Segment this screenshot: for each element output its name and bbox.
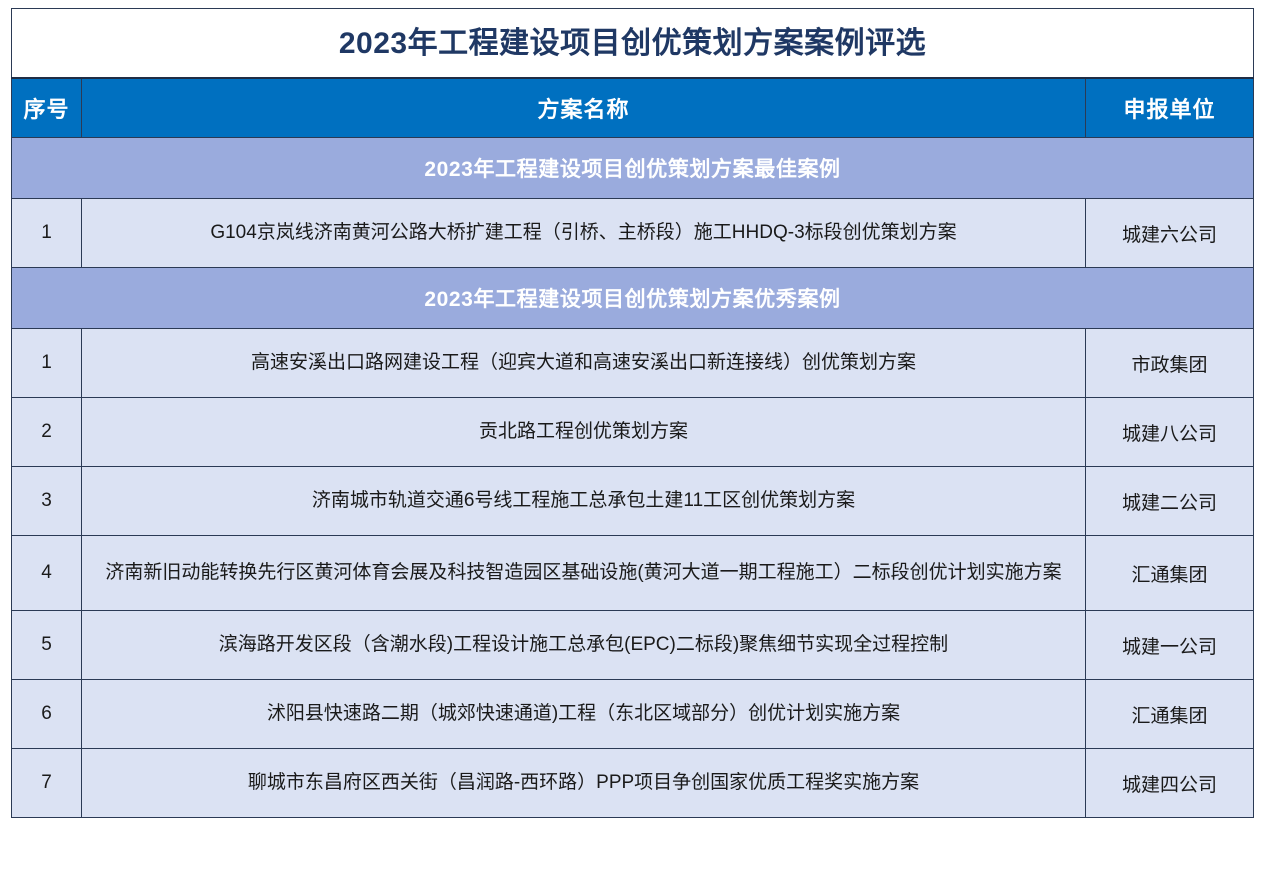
table-row: 5 滨海路开发区段（含潮水段)工程设计施工总承包(EPC)二标段)聚焦细节实现全…: [12, 611, 1254, 680]
row-index: 2: [12, 398, 82, 467]
row-plan-name: 滨海路开发区段（含潮水段)工程设计施工总承包(EPC)二标段)聚焦细节实现全过程…: [82, 611, 1086, 680]
page-title: 2023年工程建设项目创优策划方案案例评选: [12, 27, 1253, 60]
row-unit-value: 市政集团: [1086, 350, 1253, 377]
column-header-index: 序号: [12, 78, 82, 138]
row-index-value: 3: [12, 490, 81, 512]
row-index-value: 2: [12, 421, 81, 443]
row-plan-name-value: 济南新旧动能转换先行区黄河体育会展及科技智造园区基础设施(黄河大道一期工程施工）…: [82, 559, 1085, 587]
document-title-cell: 2023年工程建设项目创优策划方案案例评选: [12, 9, 1254, 79]
row-plan-name: G104京岚线济南黄河公路大桥扩建工程（引桥、主桥段）施工HHDQ-3标段创优策…: [82, 199, 1086, 268]
row-unit: 市政集团: [1086, 329, 1254, 398]
row-unit-value: 城建一公司: [1086, 632, 1253, 659]
table-row: 3 济南城市轨道交通6号线工程施工总承包土建11工区创优策划方案 城建二公司: [12, 467, 1254, 536]
row-plan-name: 沭阳县快速路二期（城郊快速通道)工程（东北区域部分）创优计划实施方案: [82, 680, 1086, 749]
row-unit-value: 汇通集团: [1086, 701, 1253, 728]
table-row: 6 沭阳县快速路二期（城郊快速通道)工程（东北区域部分）创优计划实施方案 汇通集…: [12, 680, 1254, 749]
column-header-unit: 申报单位: [1086, 78, 1254, 138]
table-row: 2 贡北路工程创优策划方案 城建八公司: [12, 398, 1254, 467]
row-index: 7: [12, 749, 82, 818]
table-row: 1 高速安溪出口路网建设工程（迎宾大道和高速安溪出口新连接线）创优策划方案 市政…: [12, 329, 1254, 398]
row-unit-value: 城建六公司: [1086, 220, 1253, 247]
row-unit: 汇通集团: [1086, 536, 1254, 611]
row-unit-value: 汇通集团: [1086, 560, 1253, 587]
section-header-best-cases: 2023年工程建设项目创优策划方案最佳案例: [12, 138, 1254, 199]
row-index-value: 1: [12, 352, 81, 374]
row-unit: 城建二公司: [1086, 467, 1254, 536]
row-plan-name-value: 高速安溪出口路网建设工程（迎宾大道和高速安溪出口新连接线）创优策划方案: [82, 349, 1085, 377]
column-header-row: 序号 方案名称 申报单位: [12, 78, 1254, 138]
title-row: 2023年工程建设项目创优策划方案案例评选: [12, 9, 1254, 79]
column-header-name-label: 方案名称: [82, 92, 1085, 124]
row-plan-name-value: 沭阳县快速路二期（城郊快速通道)工程（东北区域部分）创优计划实施方案: [82, 700, 1085, 728]
row-unit: 汇通集团: [1086, 680, 1254, 749]
row-index-value: 1: [12, 222, 81, 244]
column-header-unit-label: 申报单位: [1086, 92, 1253, 124]
row-unit-value: 城建四公司: [1086, 770, 1253, 797]
document-page: 2023年工程建设项目创优策划方案案例评选 序号 方案名称 申报单位 2023年…: [0, 0, 1266, 873]
row-index: 1: [12, 199, 82, 268]
column-header-name: 方案名称: [82, 78, 1086, 138]
row-unit: 城建一公司: [1086, 611, 1254, 680]
table-row: 7 聊城市东昌府区西关街（昌润路-西环路）PPP项目争创国家优质工程奖实施方案 …: [12, 749, 1254, 818]
row-index: 1: [12, 329, 82, 398]
section-header-row: 2023年工程建设项目创优策划方案优秀案例: [12, 268, 1254, 329]
row-plan-name: 济南新旧动能转换先行区黄河体育会展及科技智造园区基础设施(黄河大道一期工程施工）…: [82, 536, 1086, 611]
row-index-value: 6: [12, 703, 81, 725]
row-index: 4: [12, 536, 82, 611]
row-plan-name-value: G104京岚线济南黄河公路大桥扩建工程（引桥、主桥段）施工HHDQ-3标段创优策…: [82, 219, 1085, 247]
row-plan-name: 济南城市轨道交通6号线工程施工总承包土建11工区创优策划方案: [82, 467, 1086, 536]
row-plan-name-value: 聊城市东昌府区西关街（昌润路-西环路）PPP项目争创国家优质工程奖实施方案: [82, 769, 1085, 797]
row-plan-name: 聊城市东昌府区西关街（昌润路-西环路）PPP项目争创国家优质工程奖实施方案: [82, 749, 1086, 818]
row-plan-name-value: 贡北路工程创优策划方案: [82, 418, 1085, 446]
row-plan-name: 贡北路工程创优策划方案: [82, 398, 1086, 467]
row-plan-name: 高速安溪出口路网建设工程（迎宾大道和高速安溪出口新连接线）创优策划方案: [82, 329, 1086, 398]
table-row: 1 G104京岚线济南黄河公路大桥扩建工程（引桥、主桥段）施工HHDQ-3标段创…: [12, 199, 1254, 268]
row-index: 5: [12, 611, 82, 680]
section-header-row: 2023年工程建设项目创优策划方案最佳案例: [12, 138, 1254, 199]
section-header-label: 2023年工程建设项目创优策划方案最佳案例: [12, 153, 1253, 183]
row-index-value: 4: [12, 562, 81, 584]
row-plan-name-value: 滨海路开发区段（含潮水段)工程设计施工总承包(EPC)二标段)聚焦细节实现全过程…: [82, 631, 1085, 659]
row-index-value: 7: [12, 772, 81, 794]
row-index: 6: [12, 680, 82, 749]
row-unit: 城建六公司: [1086, 199, 1254, 268]
section-header-label: 2023年工程建设项目创优策划方案优秀案例: [12, 283, 1253, 313]
row-unit-value: 城建八公司: [1086, 419, 1253, 446]
column-header-index-label: 序号: [12, 92, 81, 124]
award-selection-table: 2023年工程建设项目创优策划方案案例评选 序号 方案名称 申报单位 2023年…: [11, 8, 1254, 818]
table-row: 4 济南新旧动能转换先行区黄河体育会展及科技智造园区基础设施(黄河大道一期工程施…: [12, 536, 1254, 611]
row-index-value: 5: [12, 634, 81, 656]
row-unit: 城建四公司: [1086, 749, 1254, 818]
row-unit: 城建八公司: [1086, 398, 1254, 467]
row-unit-value: 城建二公司: [1086, 488, 1253, 515]
row-plan-name-value: 济南城市轨道交通6号线工程施工总承包土建11工区创优策划方案: [82, 487, 1085, 515]
row-index: 3: [12, 467, 82, 536]
section-header-excellent-cases: 2023年工程建设项目创优策划方案优秀案例: [12, 268, 1254, 329]
